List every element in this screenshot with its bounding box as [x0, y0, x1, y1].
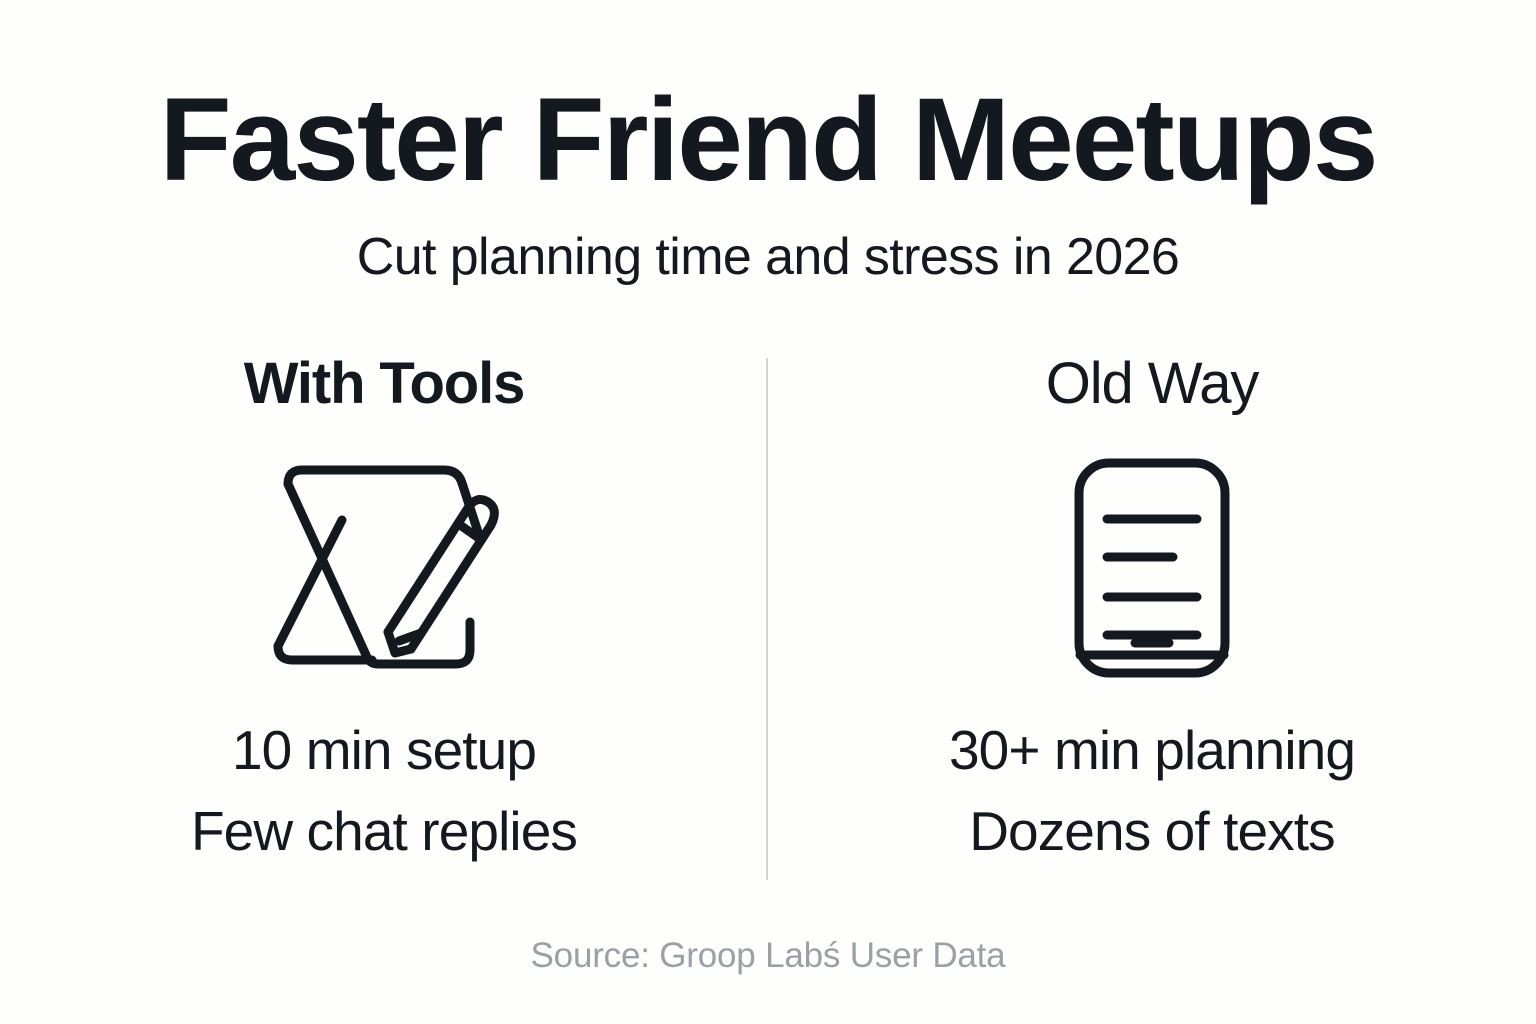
note-pencil-icon — [268, 452, 500, 684]
column-heading-old-way: Old Way — [1046, 352, 1259, 416]
caption-line: Few chat replies — [191, 791, 577, 872]
phone-messages-icon — [1073, 452, 1231, 684]
captions-old-way: 30+ min planning Dozens of texts — [949, 710, 1355, 873]
caption-line: 10 min setup — [191, 710, 577, 791]
caption-line: Dozens of texts — [949, 791, 1355, 872]
header: Faster Friend Meetups Cut planning time … — [0, 78, 1536, 286]
captions-with-tools: 10 min setup Few chat replies — [191, 710, 577, 873]
source-attribution: Source: Groop Labś User Data — [0, 936, 1536, 976]
column-heading-with-tools: With Tools — [244, 352, 525, 416]
infographic-root: Faster Friend Meetups Cut planning time … — [0, 0, 1536, 1024]
column-with-tools: With Tools — [0, 352, 768, 873]
page-subtitle: Cut planning time and stress in 2026 — [0, 229, 1536, 286]
comparison-columns: With Tools — [0, 352, 1536, 882]
column-old-way: Old Way 30+ min planning — [768, 352, 1536, 873]
page-title: Faster Friend Meetups — [0, 78, 1536, 203]
caption-line: 30+ min planning — [949, 710, 1355, 791]
